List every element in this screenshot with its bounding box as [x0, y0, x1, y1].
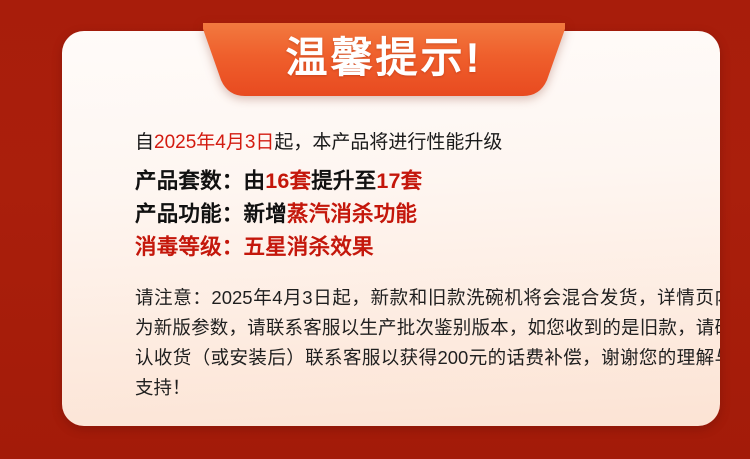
- lead-line: 自2025年4月3日起，本产品将进行性能升级: [135, 131, 720, 155]
- notice-paragraph: 请注意：2025年4月3日起，新款和旧款洗碗机将会混合发货，详情页内为新版参数，…: [135, 283, 720, 403]
- spec-part: 由: [244, 169, 266, 193]
- spec-part-highlight: 17套: [376, 169, 422, 193]
- spec-part-highlight: 蒸汽消杀功能: [287, 202, 417, 226]
- spec-part: 提升至: [311, 169, 376, 193]
- spec-part-highlight: 16套: [265, 169, 311, 193]
- spec-part-highlight: 五星消杀效果: [244, 235, 374, 259]
- notice-banner: 温馨提示!: [203, 23, 565, 96]
- notice-content: 自2025年4月3日起，本产品将进行性能升级 产品套数：由16套提升至17套 产…: [135, 131, 720, 421]
- spec-line-disinfection-grade: 消毒等级：五星消杀效果: [135, 231, 720, 264]
- spec-part: 新增: [244, 202, 287, 226]
- spec-label: 消毒等级：: [135, 235, 244, 259]
- promo-poster: 自2025年4月3日起，本产品将进行性能升级 产品套数：由16套提升至17套 产…: [0, 0, 750, 459]
- banner-title: 温馨提示!: [203, 23, 565, 96]
- lead-prefix: 自: [135, 132, 154, 153]
- spec-line-product-sets: 产品套数：由16套提升至17套: [135, 165, 720, 198]
- lead-suffix: 起，本产品将进行性能升级: [274, 132, 502, 153]
- spec-label: 产品功能：: [135, 202, 244, 226]
- lead-date: 2025年4月3日: [154, 132, 274, 153]
- spec-label: 产品套数：: [135, 169, 244, 193]
- spec-line-product-function: 产品功能：新增蒸汽消杀功能: [135, 198, 720, 231]
